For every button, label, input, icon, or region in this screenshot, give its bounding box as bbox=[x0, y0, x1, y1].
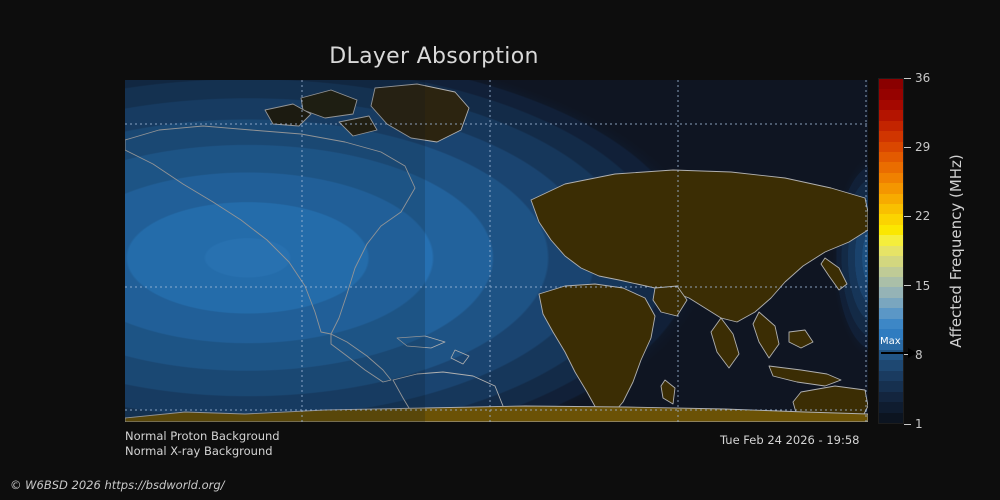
colorbar-axis-title: Affected Frequency (MHz) bbox=[946, 78, 966, 424]
colorbar-band bbox=[879, 319, 903, 329]
colorbar-tick: 1 bbox=[904, 418, 923, 430]
colorbar-band bbox=[879, 308, 903, 318]
colorbar-band bbox=[879, 413, 903, 423]
terminator-shadow bbox=[125, 80, 425, 422]
colorbar[interactable] bbox=[878, 78, 904, 424]
page-title: DLayer Absorption bbox=[0, 44, 868, 69]
colorbar-band bbox=[879, 142, 903, 152]
colorbar-band bbox=[879, 131, 903, 141]
colorbar-tick-label: 8 bbox=[915, 349, 923, 361]
colorbar-band bbox=[879, 340, 903, 350]
colorbar-band bbox=[879, 121, 903, 131]
colorbar-tick-dash bbox=[904, 424, 911, 425]
colorbar-tick: 8 bbox=[904, 349, 923, 361]
figure-canvas: DLayer Absorption bbox=[0, 0, 1000, 500]
colorbar-band bbox=[879, 225, 903, 235]
colorbar-band bbox=[879, 392, 903, 402]
map-panel[interactable] bbox=[125, 80, 868, 422]
world-map-svg bbox=[125, 80, 868, 422]
colorbar-tick-dash bbox=[904, 147, 911, 148]
colorbar-tick-label: 1 bbox=[915, 418, 923, 430]
colorbar-band bbox=[879, 246, 903, 256]
colorbar-tick-label: 15 bbox=[915, 280, 930, 292]
timestamp-label: Tue Feb 24 2026 - 19:58 bbox=[720, 433, 859, 447]
colorbar-tick-label: 36 bbox=[915, 72, 930, 84]
colorbar-band bbox=[879, 110, 903, 120]
colorbar-tick-dash bbox=[904, 216, 911, 217]
colorbar-band bbox=[879, 381, 903, 391]
colorbar-tick-dash bbox=[904, 354, 911, 355]
colorbar-tick-dash bbox=[904, 78, 911, 79]
colorbar-band bbox=[879, 235, 903, 245]
colorbar-tick-label: 29 bbox=[915, 141, 930, 153]
colorbar-band bbox=[879, 79, 903, 89]
colorbar-band bbox=[879, 402, 903, 412]
colorbar-band bbox=[879, 277, 903, 287]
colorbar-band bbox=[879, 162, 903, 172]
colorbar-tick: 36 bbox=[904, 72, 930, 84]
colorbar-band bbox=[879, 267, 903, 277]
colorbar-tick: 22 bbox=[904, 210, 930, 222]
copyright-footer: © W6BSD 2026 https://bsdworld.org/ bbox=[10, 478, 225, 492]
colorbar-band bbox=[879, 287, 903, 297]
status-proton-background: Normal Proton Background bbox=[125, 429, 280, 444]
status-block: Normal Proton Background Normal X-ray Ba… bbox=[125, 429, 280, 459]
colorbar-tick: 15 bbox=[904, 280, 930, 292]
colorbar-band bbox=[879, 298, 903, 308]
colorbar-band bbox=[879, 360, 903, 370]
colorbar-band bbox=[879, 371, 903, 381]
colorbar-band bbox=[879, 214, 903, 224]
colorbar-band bbox=[879, 183, 903, 193]
colorbar-band bbox=[879, 204, 903, 214]
colorbar-tick: 29 bbox=[904, 141, 930, 153]
status-xray-background: Normal X-ray Background bbox=[125, 444, 280, 459]
colorbar-band bbox=[879, 350, 903, 360]
colorbar-band bbox=[879, 173, 903, 183]
colorbar-tick-dash bbox=[904, 285, 911, 286]
colorbar-band bbox=[879, 89, 903, 99]
colorbar-band bbox=[879, 194, 903, 204]
colorbar-band bbox=[879, 152, 903, 162]
colorbar-band bbox=[879, 329, 903, 339]
colorbar-band bbox=[879, 256, 903, 266]
colorbar-tick-label: 22 bbox=[915, 210, 930, 222]
colorbar-band bbox=[879, 100, 903, 110]
colorbar-ticks: 1815222936 bbox=[904, 78, 944, 424]
